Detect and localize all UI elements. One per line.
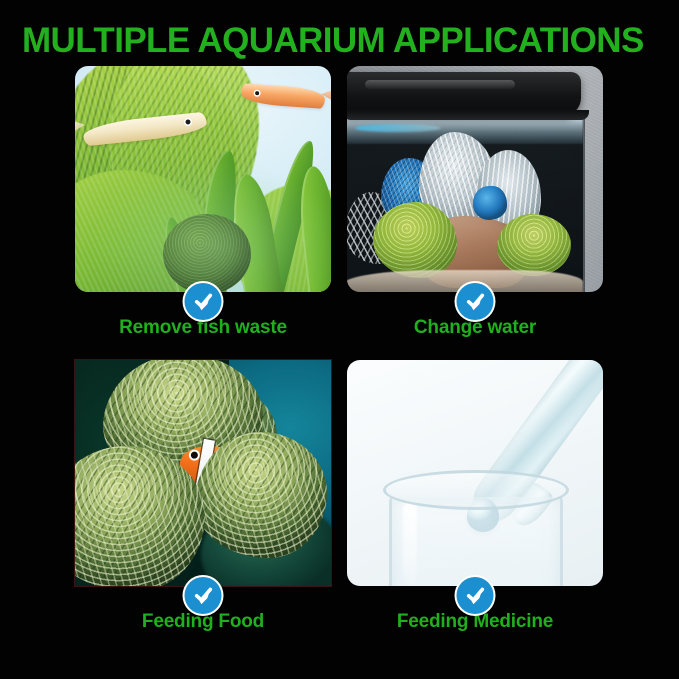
- application-card-grid: Remove fish waste: [0, 62, 679, 674]
- check-circle-icon: [457, 577, 494, 614]
- check-circle-icon: [185, 283, 222, 320]
- application-card-feeding-food[interactable]: Feeding Food: [68, 360, 338, 634]
- thumbnail-wrapper: [68, 360, 338, 596]
- thumbnail-image-clownfish-reef: [75, 360, 331, 586]
- aquarium-applications-infographic: MULTIPLE AQUARIUM APPLICATIONS: [0, 0, 679, 679]
- application-card-remove-fish-waste[interactable]: Remove fish waste: [68, 66, 338, 340]
- scene-coral-reef: [75, 360, 331, 586]
- check-circle-icon: [185, 577, 222, 614]
- coral-green-b: [497, 214, 571, 276]
- application-card-change-water[interactable]: Change water: [340, 66, 610, 340]
- page-title: MULTIPLE AQUARIUM APPLICATIONS: [22, 21, 662, 61]
- beaker-highlight: [403, 502, 417, 586]
- scene-nano-aquarium: [347, 66, 603, 292]
- thumbnail-image-planted-tank: [75, 66, 331, 292]
- thumbnail-image-dropper-beaker: [347, 360, 603, 586]
- beaker-rim: [383, 470, 569, 510]
- scene-planted-aquarium: [75, 66, 331, 292]
- coral-blue-small: [473, 186, 507, 220]
- water-surface-glint: [355, 124, 441, 132]
- thumbnail-wrapper: [340, 66, 610, 302]
- scene-pipette-dropper: [347, 360, 603, 586]
- check-circle-icon: [457, 283, 494, 320]
- thumbnail-wrapper: [68, 66, 338, 302]
- water-glow-overlay: [75, 66, 331, 292]
- coral-green-a: [373, 202, 457, 278]
- thumbnail-wrapper: [340, 360, 610, 596]
- thumbnail-image-nano-tank: [347, 66, 603, 292]
- application-card-feeding-medicine[interactable]: Feeding Medicine: [340, 360, 610, 634]
- tank-lid-lip: [347, 110, 589, 120]
- anemone-c: [195, 432, 327, 558]
